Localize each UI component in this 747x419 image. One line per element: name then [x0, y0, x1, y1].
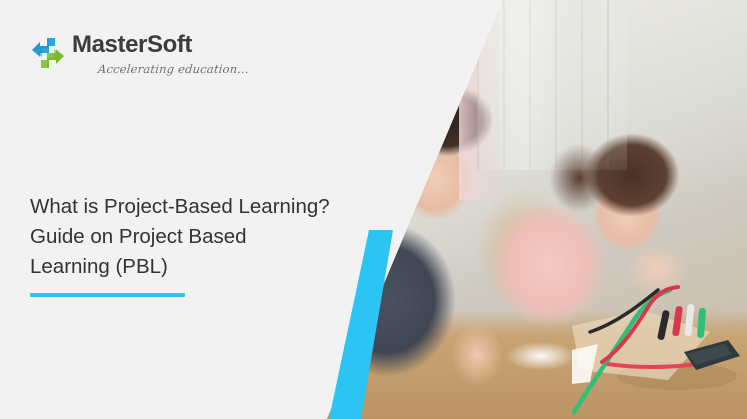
photo-circuit-wires: [572, 284, 747, 419]
photo-window: [477, 0, 627, 170]
page-title-underline-rule: [30, 293, 185, 297]
hero-photo: [327, 0, 747, 419]
logo-text-block: MasterSoft Accelerating education...: [72, 33, 249, 76]
mastersoft-pinwheel-logo-icon: [30, 36, 66, 70]
page-title: What is Project-Based Learning? Guide on…: [30, 192, 360, 297]
page-title-line-2: Guide on Project Based: [30, 222, 360, 252]
page-title-line-1: What is Project-Based Learning?: [30, 192, 360, 222]
page-title-line-3: Learning (PBL): [30, 252, 360, 282]
mastersoft-logo[interactable]: MasterSoft Accelerating education...: [30, 33, 249, 76]
logo-tagline: Accelerating education...: [97, 62, 250, 76]
article-hero-banner: MasterSoft Accelerating education... Wha…: [0, 0, 747, 419]
logo-wordmark: MasterSoft: [72, 33, 249, 57]
